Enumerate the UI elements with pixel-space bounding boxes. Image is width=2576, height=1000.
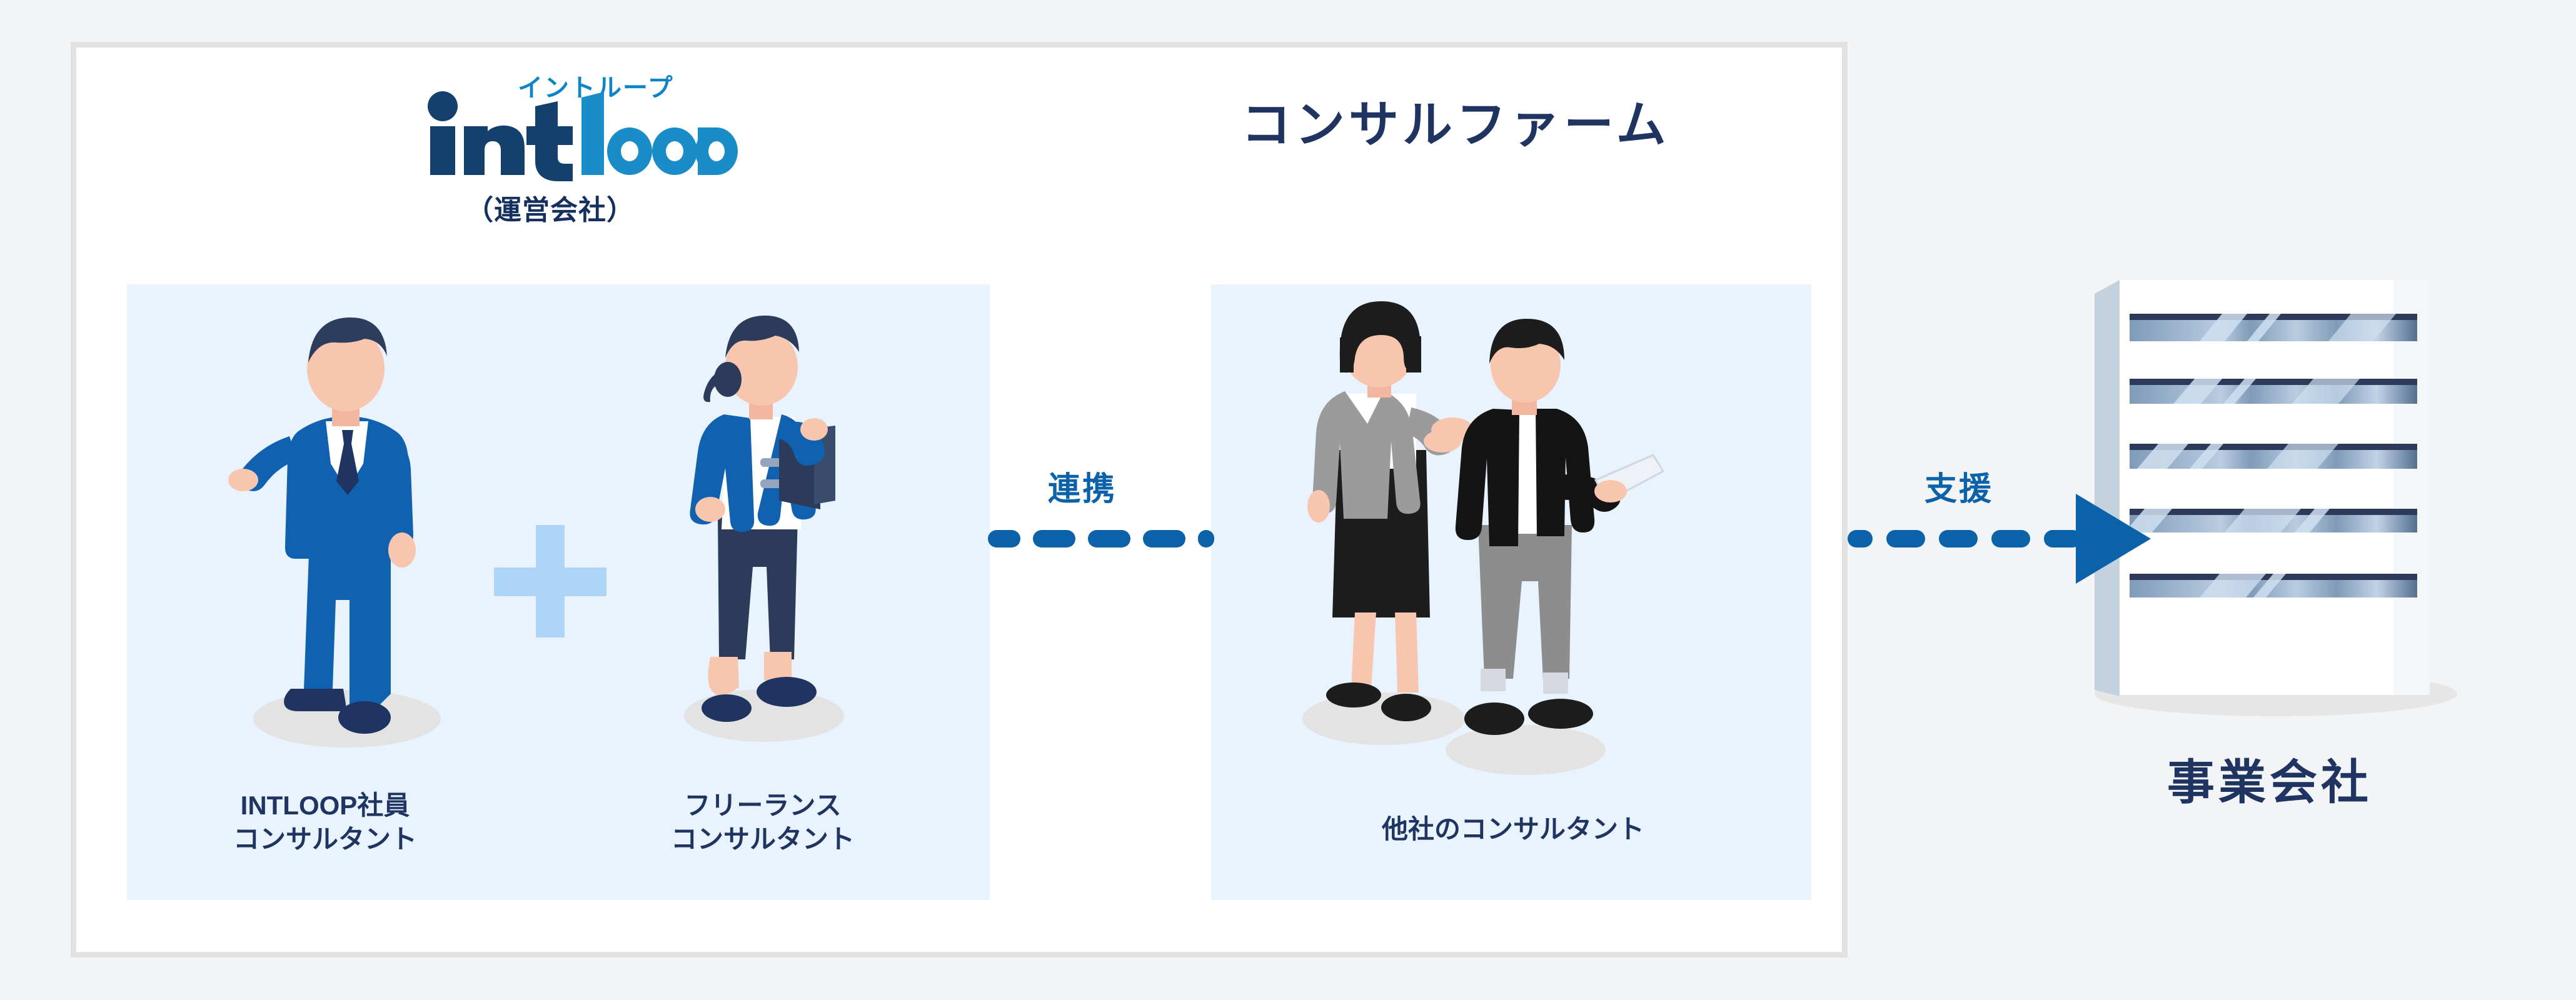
- dashed-line-renkei: [988, 530, 1214, 551]
- dashed-line-shien: [1848, 530, 2098, 551]
- caption-freelance-consultant: フリーランス コンサルタント: [588, 789, 938, 856]
- connector-label-shien: 支援: [1924, 462, 1993, 509]
- office-building-icon: [2088, 256, 2463, 719]
- intloop-consultant-icon: [216, 300, 478, 750]
- logo-subtitle: （運営会社）: [375, 187, 725, 227]
- business-company-label: 事業会社: [2045, 744, 2495, 812]
- caption-other-consultant: 他社のコンサルタント: [1288, 812, 1738, 846]
- connector-label-renkei: 連携: [1048, 462, 1117, 509]
- plus-icon: [494, 525, 606, 637]
- freelance-consultant-icon: [650, 309, 875, 747]
- other-consultant-man-icon: [1432, 319, 1657, 781]
- caption-intloop-consultant: INTLOOP社員 コンサルタント: [150, 789, 500, 856]
- intloop-logo-block: イントループ: [375, 50, 725, 237]
- arrow-head-icon: [2076, 494, 2151, 584]
- diagram-canvas: イントループ: [0, 0, 2576, 1000]
- consulting-firm-title: コンサルファーム: [1241, 84, 1670, 157]
- intloop-wordmark-icon: [425, 87, 719, 181]
